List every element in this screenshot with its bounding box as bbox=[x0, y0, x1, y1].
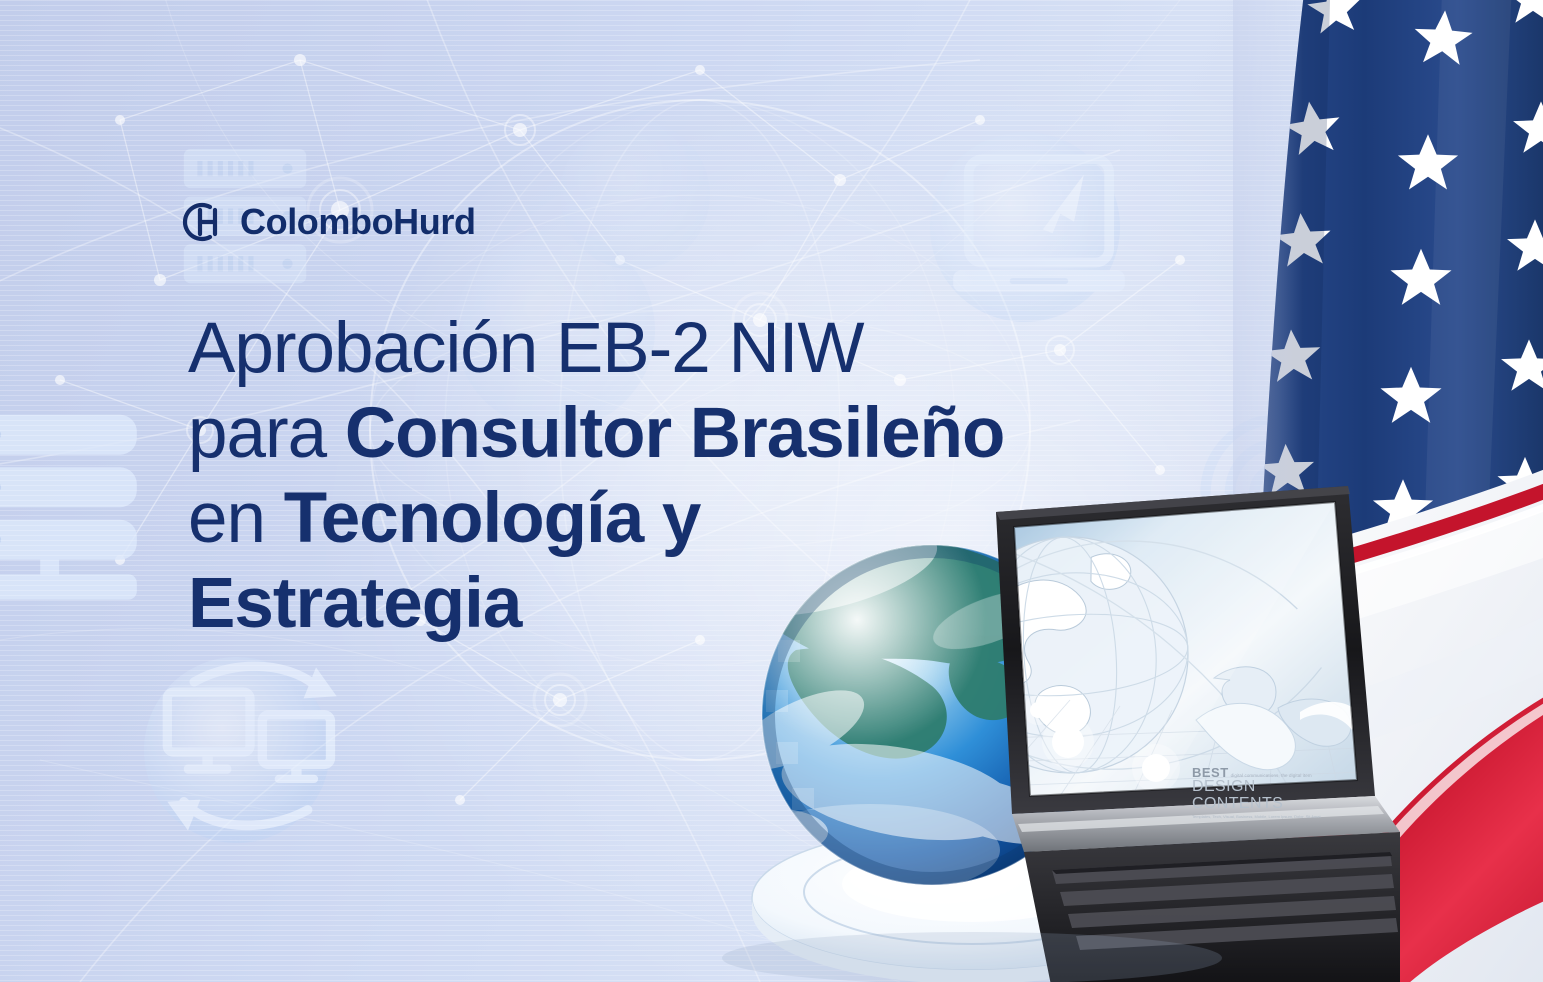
headline-line-4: Estrategia bbox=[188, 561, 1208, 646]
colombohurd-monogram-icon bbox=[174, 196, 226, 248]
headline-line-2: para Consultor Brasileño bbox=[188, 391, 1208, 476]
atom-node-icon bbox=[560, 120, 710, 270]
database-stack-icon bbox=[0, 398, 172, 608]
headline-line-3: en Tecnología y bbox=[188, 476, 1208, 561]
headline-line-2-bold: Consultor Brasileño bbox=[345, 394, 1005, 473]
brand-logo[interactable]: ColomboHurd bbox=[174, 196, 476, 248]
headline-line-4-bold: Estrategia bbox=[188, 564, 521, 643]
monitor-sync-icon bbox=[138, 655, 366, 845]
headline-line-1-light: Aprobación EB-2 NIW bbox=[188, 309, 864, 388]
headline-line-3-light: en bbox=[188, 479, 284, 558]
laptop-cursor-icon bbox=[912, 128, 1162, 323]
headline-line-1: Aprobación EB-2 NIW bbox=[188, 306, 1208, 391]
headline-line-2-light: para bbox=[188, 394, 345, 473]
brand-name: ColomboHurd bbox=[240, 204, 476, 240]
headline-line-3-bold: Tecnología y bbox=[284, 479, 701, 558]
page-title: Aprobación EB-2 NIW para Consultor Brasi… bbox=[188, 306, 1208, 646]
banner-canvas: BESTdigital communications, the digital … bbox=[0, 0, 1543, 982]
